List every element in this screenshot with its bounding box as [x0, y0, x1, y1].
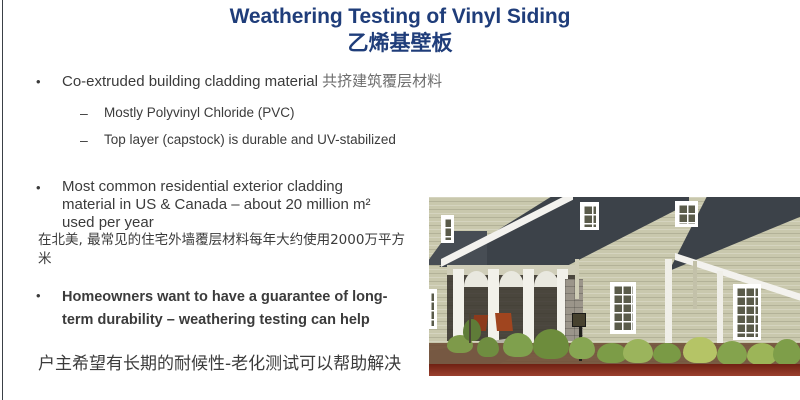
window-glass: [613, 285, 633, 331]
downspout: [693, 261, 697, 309]
bullet-marker-icon: •: [36, 178, 62, 197]
bullet-item-1: • Co-extruded building cladding material…: [36, 72, 636, 91]
slide-canvas: Weathering Testing of Vinyl Siding 乙烯基壁板…: [0, 0, 800, 400]
house-siding-photo: [417, 197, 800, 378]
window-glass: [583, 205, 596, 227]
shrub: [773, 339, 800, 365]
photo-accent-band-shading: [429, 364, 800, 376]
window: [733, 284, 761, 340]
bullet-item-1-text-zh: 共挤建筑覆层材料: [322, 72, 442, 90]
porch-column: [488, 269, 499, 345]
shrub: [653, 343, 681, 363]
corner-trim: [665, 259, 672, 345]
slide-left-edge: [2, 0, 3, 400]
photo-bottom-margin: [417, 376, 800, 378]
page-title-chinese: 乙烯基壁板: [0, 30, 800, 57]
sub-bullet-item-2-text: Top layer (capstock) is durable and UV-s…: [104, 131, 396, 149]
sub-bullet-item-1: – Mostly Polyvinyl Chloride (PVC): [80, 104, 600, 122]
sub-bullet-item-2: – Top layer (capstock) is durable and UV…: [80, 131, 600, 149]
porch-chair: [495, 313, 513, 331]
bullet-marker-icon: •: [36, 72, 62, 91]
window-glass: [430, 292, 434, 326]
window: [580, 202, 599, 230]
shrub: [477, 337, 499, 357]
dash-marker-icon: –: [80, 104, 104, 122]
shrub: [623, 339, 653, 363]
bullet-item-3-text: Homeowners want to have a guarantee of l…: [62, 286, 396, 332]
window-glass: [444, 218, 451, 240]
window: [441, 215, 454, 243]
bullet-item-3: • Homeowners want to have a guarantee of…: [36, 286, 396, 332]
window: [675, 201, 698, 227]
bullet-item-1-text-en: Co-extruded building cladding material: [62, 73, 322, 90]
bullet-item-1-text: Co-extruded building cladding material 共…: [62, 72, 442, 91]
shrub: [533, 329, 569, 359]
slide-title-block: Weathering Testing of Vinyl Siding 乙烯基壁板: [0, 4, 800, 57]
bullet-item-2: • Most common residential exterior cladd…: [36, 178, 396, 232]
page-title: Weathering Testing of Vinyl Siding: [0, 4, 800, 30]
bullet-marker-icon: •: [36, 286, 62, 305]
shrub: [569, 337, 595, 359]
shrub: [463, 319, 481, 341]
shrub: [503, 333, 533, 357]
dash-marker-icon: –: [80, 131, 104, 149]
shrub: [683, 337, 717, 363]
downspout: [575, 259, 579, 299]
photo-left-margin: [417, 197, 429, 378]
window-glass: [678, 204, 695, 224]
bullet-item-3-text-zh: 户主希望有长期的耐候性-老化测试可以帮助解决: [38, 352, 418, 377]
garden-stake: [469, 313, 471, 343]
sub-bullet-item-1-text: Mostly Polyvinyl Chloride (PVC): [104, 104, 295, 122]
lamp-head-icon: [572, 313, 586, 327]
bullet-item-2-text-zh: 在北美, 最常见的住宅外墙覆层材料每年大约使用2000万平方米: [38, 231, 413, 269]
shrub: [717, 341, 747, 365]
bullet-item-2-text: Most common residential exterior claddin…: [62, 178, 396, 232]
corner-trim: [717, 271, 723, 345]
window-glass: [736, 287, 758, 337]
window: [610, 282, 636, 334]
